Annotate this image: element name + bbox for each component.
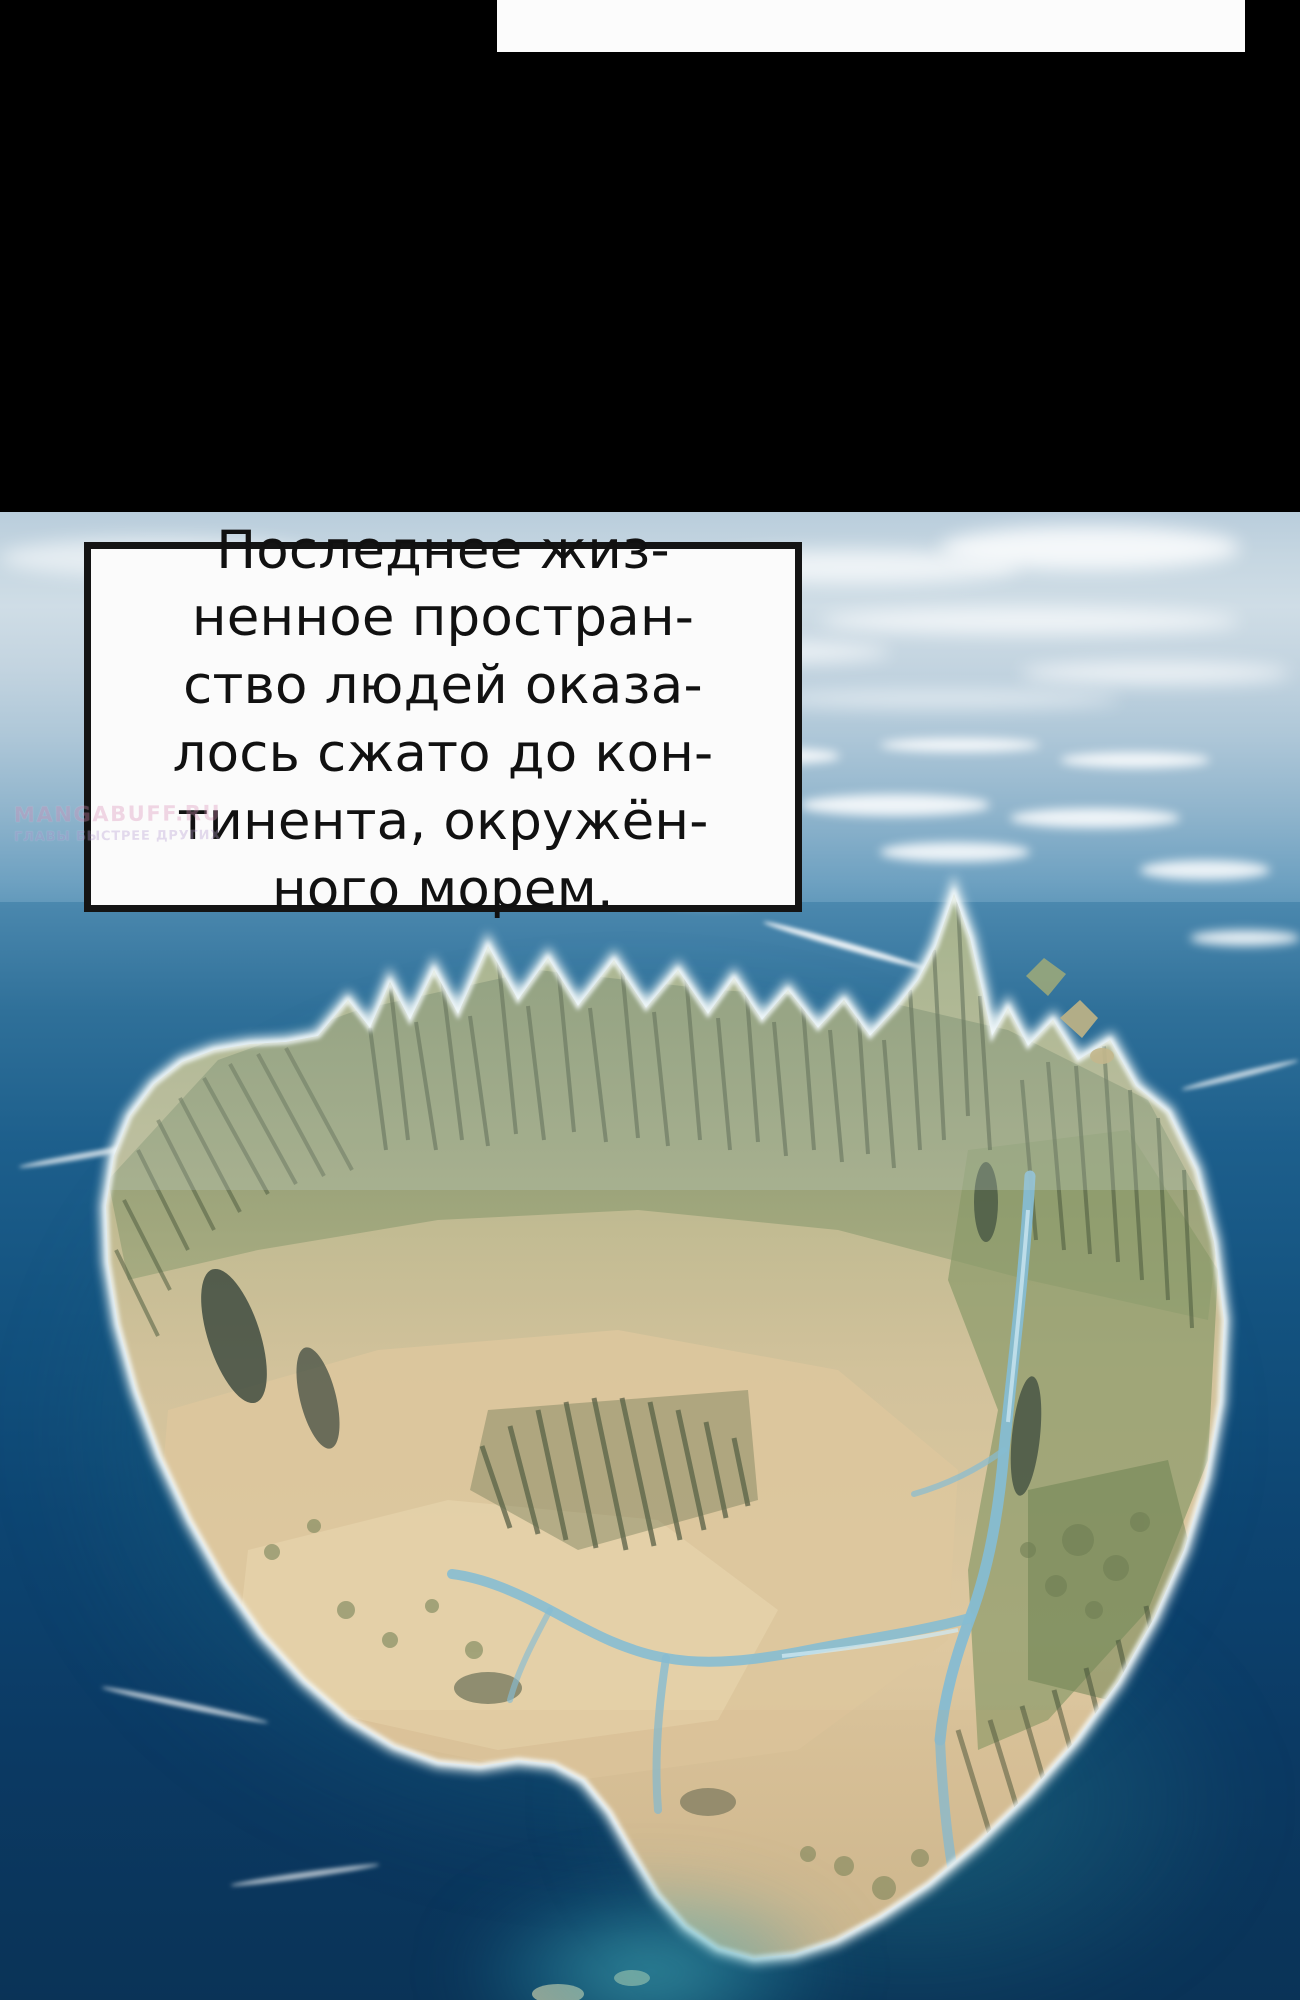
narration-line: тинента, окружён-: [109, 788, 777, 856]
narration-text: Последнее жиз- ненное простран- ство люд…: [91, 517, 795, 938]
narration-textbox: Последнее жиз- ненное простран- ство люд…: [84, 542, 802, 912]
white-gutter-strip: [497, 0, 1245, 52]
comic-panel-page: Последнее жиз- ненное простран- ство люд…: [0, 0, 1300, 2000]
narration-line: ство людей оказа-: [109, 652, 777, 720]
island-continent: [18, 850, 1278, 2000]
narration-line: лось сжато до кон-: [109, 720, 777, 788]
narration-line: Последнее жиз-: [109, 517, 777, 585]
narration-line: ного морем.: [109, 856, 777, 924]
black-letterbox-band: [0, 0, 1300, 512]
narration-line: ненное простран-: [109, 584, 777, 652]
